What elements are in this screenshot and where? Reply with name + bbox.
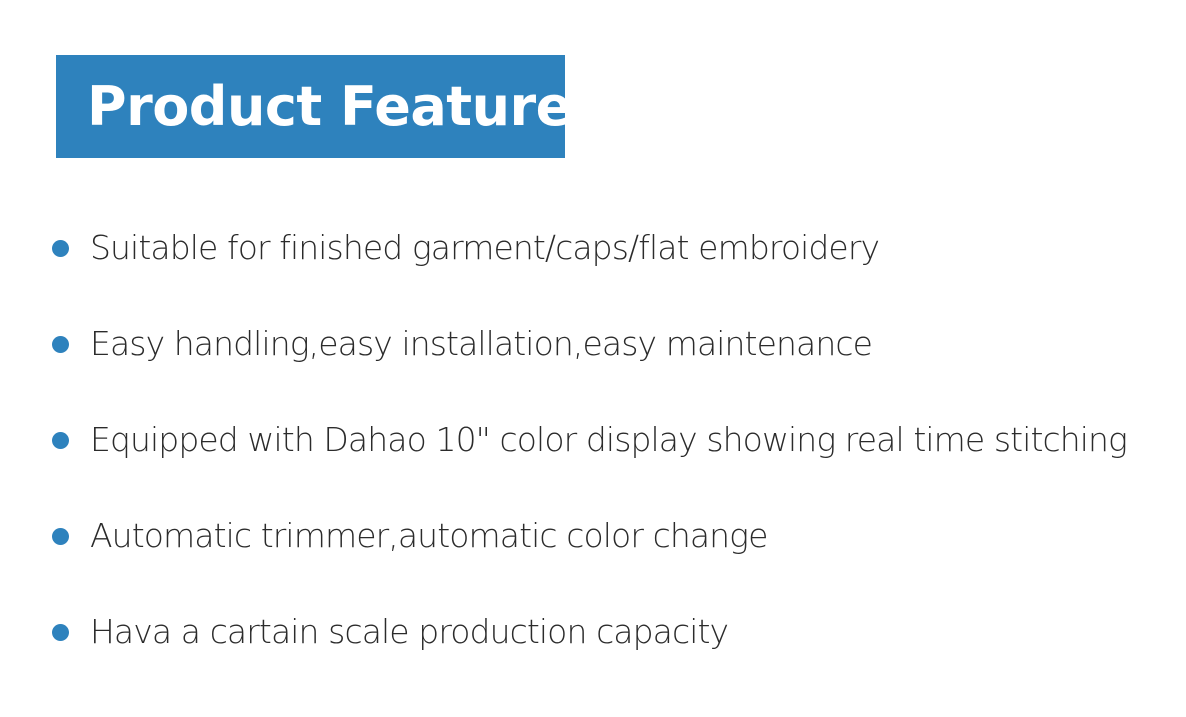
feature-list: Suitable for finished garment/caps/flat … bbox=[52, 200, 1172, 680]
list-item: Automatic trimmer,automatic color change bbox=[52, 488, 1172, 584]
list-item: Suitable for finished garment/caps/flat … bbox=[52, 200, 1172, 296]
list-item: Easy handling,easy installation,easy mai… bbox=[52, 296, 1172, 392]
product-features-page: Product Features Suitable for finished g… bbox=[0, 0, 1186, 717]
feature-text: Hava a cartain scale production capacity bbox=[90, 613, 728, 651]
bullet-dot-icon bbox=[52, 432, 69, 449]
page-title-banner: Product Features bbox=[56, 55, 565, 158]
page-title: Product Features bbox=[87, 80, 603, 134]
feature-text: Automatic trimmer,automatic color change bbox=[90, 517, 767, 555]
bullet-dot-icon bbox=[52, 624, 69, 641]
list-item: Equipped with Dahao 10" color display sh… bbox=[52, 392, 1172, 488]
bullet-dot-icon bbox=[52, 240, 69, 257]
feature-text: Equipped with Dahao 10" color display sh… bbox=[90, 421, 1127, 459]
bullet-dot-icon bbox=[52, 528, 69, 545]
feature-text: Suitable for finished garment/caps/flat … bbox=[90, 229, 879, 267]
bullet-dot-icon bbox=[52, 336, 69, 353]
feature-text: Easy handling,easy installation,easy mai… bbox=[90, 325, 872, 363]
list-item: Hava a cartain scale production capacity bbox=[52, 584, 1172, 680]
